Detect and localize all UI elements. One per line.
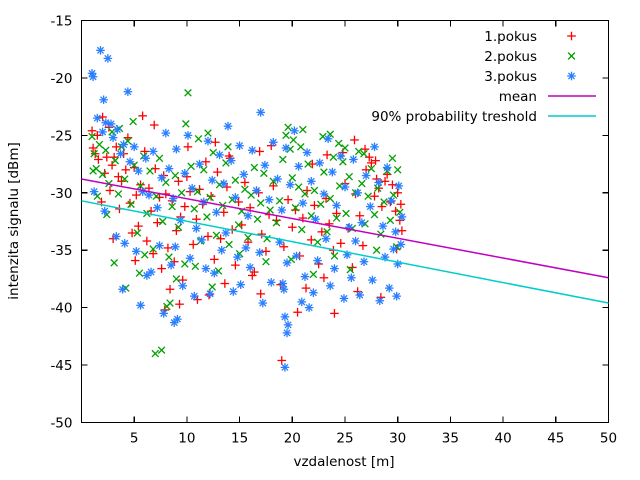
data-point	[206, 290, 215, 299]
data-point	[347, 273, 356, 282]
data-point	[184, 131, 193, 140]
data-point	[398, 213, 407, 222]
data-point	[248, 146, 257, 155]
data-point	[313, 256, 322, 265]
legend-marker-3	[567, 72, 576, 81]
data-point	[149, 147, 158, 156]
data-point	[224, 122, 233, 131]
data-point	[104, 54, 113, 63]
data-point	[130, 143, 139, 152]
data-point	[299, 199, 308, 208]
data-point	[307, 177, 316, 186]
data-point	[212, 208, 221, 217]
y-tick-label: -30	[50, 186, 72, 202]
data-point	[355, 291, 364, 300]
data-point	[292, 252, 301, 261]
data-point	[341, 183, 350, 192]
data-point	[236, 280, 245, 289]
data-point	[294, 162, 303, 171]
data-point	[208, 176, 217, 185]
x-tick-label: 45	[547, 431, 564, 447]
x-tick-label: 50	[600, 431, 617, 447]
data-point	[96, 46, 105, 55]
data-point	[170, 318, 179, 327]
legend-label-1: 1.pokus	[484, 29, 537, 45]
data-point	[309, 288, 318, 297]
data-point	[188, 184, 197, 193]
data-point	[215, 151, 224, 160]
data-point	[190, 292, 199, 301]
data-point	[90, 187, 99, 196]
data-point	[392, 292, 401, 301]
y-tick-label: -50	[50, 416, 72, 432]
data-point	[301, 272, 310, 281]
data-point	[178, 282, 187, 291]
data-point	[252, 186, 261, 195]
data-point	[134, 167, 143, 176]
data-point	[375, 296, 384, 305]
x-tick-label: 40	[495, 431, 512, 447]
data-point	[141, 154, 150, 163]
data-point	[165, 164, 174, 173]
data-point	[370, 143, 379, 152]
data-point	[171, 242, 180, 251]
data-point	[119, 140, 128, 149]
data-point	[217, 246, 226, 255]
data-point	[394, 182, 403, 191]
data-point	[391, 228, 400, 237]
data-point	[265, 195, 274, 204]
y-tick-label: -40	[50, 301, 72, 317]
x-axis-title: vzdalenost [m]	[293, 454, 394, 470]
data-point	[240, 170, 249, 179]
data-point	[340, 294, 349, 303]
data-point	[195, 160, 204, 169]
data-point	[326, 282, 335, 291]
data-point	[261, 161, 270, 170]
data-point	[349, 155, 358, 164]
data-point	[112, 232, 121, 241]
data-point	[360, 257, 369, 266]
data-point	[202, 264, 211, 273]
data-point	[320, 190, 329, 199]
data-point	[167, 261, 176, 270]
data-point	[233, 253, 242, 262]
x-tick-label: 25	[336, 431, 353, 447]
y-tick-label: -20	[50, 71, 72, 87]
data-point	[385, 284, 394, 293]
x-tick-label: 15	[231, 431, 248, 447]
data-point	[255, 248, 264, 257]
data-point	[93, 114, 102, 123]
data-point	[116, 149, 125, 158]
y-tick-label: -45	[50, 358, 72, 374]
data-point	[159, 309, 168, 318]
data-point	[197, 236, 206, 245]
data-point	[246, 263, 255, 272]
data-point	[383, 163, 392, 172]
data-point	[303, 148, 312, 157]
data-point	[280, 285, 289, 294]
data-point	[297, 298, 306, 307]
data-point	[324, 135, 333, 144]
data-point	[267, 278, 276, 287]
data-point	[379, 222, 388, 231]
data-point	[219, 179, 228, 188]
data-point	[172, 145, 181, 154]
data-point	[397, 240, 406, 249]
data-point	[242, 244, 251, 253]
data-point	[277, 206, 286, 215]
data-point	[229, 287, 238, 296]
data-point	[389, 245, 398, 254]
data-point	[353, 188, 362, 197]
data-point	[315, 159, 324, 168]
data-point	[231, 193, 240, 202]
data-point	[322, 234, 331, 243]
data-point	[281, 363, 290, 372]
data-point	[336, 152, 345, 161]
data-point	[155, 241, 164, 250]
data-point	[124, 87, 133, 96]
data-point	[283, 329, 292, 338]
data-point	[368, 276, 377, 285]
data-point	[282, 144, 291, 153]
data-point	[283, 259, 292, 268]
data-point	[258, 299, 267, 308]
data-point	[281, 313, 290, 322]
data-point	[286, 180, 295, 189]
legend-label-5: 90% probability treshold	[371, 109, 537, 125]
data-point	[120, 239, 129, 248]
data-point	[227, 156, 236, 165]
legend-label-4: mean	[499, 89, 537, 105]
x-tick-label: 10	[178, 431, 195, 447]
data-point	[204, 137, 213, 146]
data-point	[89, 72, 98, 81]
data-point	[273, 175, 282, 184]
y-tick-label: -25	[50, 128, 72, 144]
chart-container: 5101520253035404550 -15-20-25-30-35-40-4…	[0, 0, 640, 480]
data-point	[284, 321, 293, 330]
data-point	[358, 218, 367, 227]
x-tick-label: 20	[284, 431, 301, 447]
scatter-plot-svg: 5101520253035404550 -15-20-25-30-35-40-4…	[0, 0, 640, 480]
data-point	[351, 237, 360, 246]
legend-label-3: 3.pokus	[484, 69, 537, 85]
data-point	[126, 157, 135, 166]
data-point	[374, 178, 383, 187]
x-tick-label: 5	[130, 431, 139, 447]
data-point	[290, 126, 299, 135]
data-point	[136, 301, 145, 310]
data-point	[269, 138, 278, 147]
data-point	[143, 271, 152, 280]
y-axis-title: intenzita signalu [dBm]	[6, 142, 22, 299]
data-point	[332, 201, 341, 210]
x-tick-label: 35	[442, 431, 459, 447]
data-point	[162, 129, 171, 138]
data-point	[192, 224, 201, 233]
data-point	[305, 303, 314, 312]
data-point	[362, 171, 371, 180]
data-point	[98, 128, 107, 137]
y-tick-label: -15	[50, 14, 72, 30]
legend-label-2: 2.pokus	[484, 49, 537, 65]
data-point	[118, 285, 127, 294]
data-point	[244, 211, 253, 220]
data-point	[235, 141, 244, 150]
x-tick-label: 30	[389, 431, 406, 447]
y-tick-label: -35	[50, 243, 72, 259]
data-point	[256, 108, 265, 117]
data-point	[186, 254, 195, 263]
data-point	[113, 125, 122, 134]
data-point	[330, 264, 339, 273]
data-point	[100, 207, 109, 216]
data-point	[387, 197, 396, 206]
data-point	[153, 203, 162, 212]
data-point	[366, 202, 375, 211]
data-point	[99, 95, 108, 104]
data-point	[109, 133, 118, 142]
data-point	[180, 169, 189, 178]
data-point	[132, 247, 141, 256]
data-point	[157, 174, 166, 183]
data-point	[328, 168, 337, 177]
data-point	[210, 269, 219, 278]
